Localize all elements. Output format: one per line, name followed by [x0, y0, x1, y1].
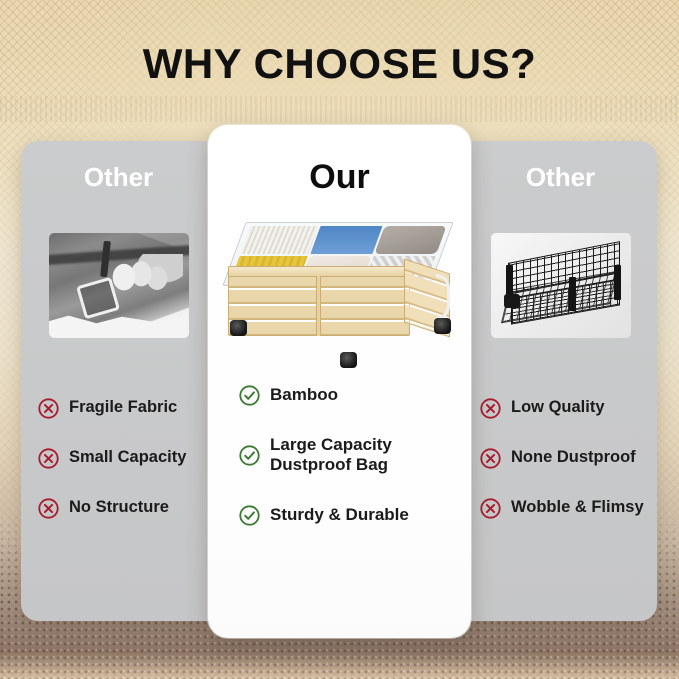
list-item-label: Small Capacity [69, 448, 186, 467]
list-item-label: Sturdy & Durable [270, 505, 409, 525]
check-circle-icon [238, 504, 261, 527]
fabric-storage-bag-photo [49, 233, 189, 338]
list-item-label: No Structure [69, 498, 169, 517]
panel-our-feature-list: Bamboo Large Capacity Dustproof Bag Stur… [238, 383, 463, 555]
cross-circle-icon [479, 497, 502, 520]
bamboo-frame-illustration [228, 268, 452, 338]
cross-circle-icon [37, 447, 60, 470]
page-title: WHY CHOOSE US? [0, 40, 679, 88]
cross-circle-icon [37, 397, 60, 420]
wire-mesh-basket-photo [491, 233, 631, 338]
fabric-bag-illustration [49, 233, 189, 338]
list-item: Wobble & Flimsy [479, 496, 659, 520]
panel-left-title: Other [21, 162, 216, 193]
caster-wheel [340, 352, 357, 368]
background-top-stitch-texture [0, 96, 679, 122]
cross-circle-icon [479, 447, 502, 470]
list-item: Small Capacity [37, 446, 217, 470]
floor-illustration [49, 311, 189, 338]
list-item: Fragile Fabric [37, 396, 217, 420]
panel-other-left: Other Fragile Fabric Small Capacity [21, 141, 216, 621]
panel-our: Our Bamboo [208, 125, 471, 638]
wire-basket-illustration [491, 233, 631, 338]
check-circle-icon [238, 444, 261, 467]
bedding-item [310, 226, 382, 254]
list-item-label: Large Capacity Dustproof Bag [270, 435, 392, 475]
list-item-label: Fragile Fabric [69, 398, 177, 417]
panel-other-right: Other Low Quality None Dustproof [463, 141, 658, 621]
list-item: Sturdy & Durable [238, 503, 463, 527]
list-item-label: Low Quality [511, 398, 605, 417]
wire-post [614, 265, 621, 301]
list-item: None Dustproof [479, 446, 659, 470]
hand-illustration [111, 254, 184, 309]
panel-right-title: Other [463, 162, 658, 193]
bamboo-under-bed-storage-photo [216, 220, 464, 365]
wire-post [569, 277, 576, 311]
wire-foot [504, 294, 520, 308]
bedding-item [374, 226, 446, 254]
list-item-label: Wobble & Flimsy [511, 498, 644, 517]
panel-our-title: Our [208, 158, 471, 197]
bedding-item [240, 226, 318, 254]
bamboo-center-divider [316, 276, 321, 336]
cross-circle-icon [479, 397, 502, 420]
list-item: Bamboo [238, 383, 463, 407]
pull-handle-illustration [436, 274, 450, 320]
panel-left-feature-list: Fragile Fabric Small Capacity No Structu… [37, 396, 217, 546]
list-item: Low Quality [479, 396, 659, 420]
list-item-label: Bamboo [270, 385, 338, 405]
caster-wheel [230, 320, 247, 336]
caster-wheel [434, 318, 451, 334]
check-circle-icon [238, 384, 261, 407]
panel-right-feature-list: Low Quality None Dustproof Wobble & Flim… [479, 396, 659, 546]
list-item-label: None Dustproof [511, 448, 636, 467]
list-item: No Structure [37, 496, 217, 520]
list-item: Large Capacity Dustproof Bag [238, 435, 463, 475]
cross-circle-icon [37, 497, 60, 520]
